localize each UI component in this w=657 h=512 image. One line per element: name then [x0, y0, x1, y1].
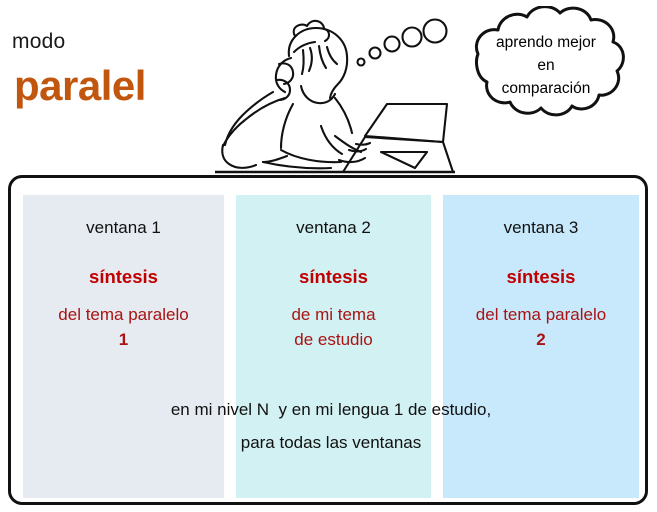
window-column-2[interactable]: ventana 2 síntesis de mi tema de estudio	[236, 195, 431, 498]
window-2-desc-line-1: de mi tema	[236, 302, 431, 327]
person-studying-icon	[215, 0, 455, 176]
mode-label: modo	[12, 30, 65, 54]
thought-bubble-text: aprendo mejor en comparación	[466, 31, 626, 100]
window-3-desc-line-1: del tema paralelo	[443, 302, 639, 327]
window-1-desc-line-1: del tema paralelo	[23, 302, 224, 327]
window-1-description: del tema paralelo 1	[23, 302, 224, 352]
header: modo paralel	[0, 0, 657, 175]
thought-bubble-line-3: comparación	[466, 77, 626, 100]
window-3-description: del tema paralelo 2	[443, 302, 639, 352]
window-1-synthesis: síntesis	[23, 265, 224, 289]
window-2-synthesis: síntesis	[236, 265, 431, 289]
window-2-title: ventana 2	[236, 217, 431, 239]
thought-bubble-line-2: en	[466, 54, 626, 77]
window-3-title: ventana 3	[443, 217, 639, 239]
window-2-description: de mi tema de estudio	[236, 302, 431, 352]
window-3-synthesis: síntesis	[443, 265, 639, 289]
window-1-title: ventana 1	[23, 217, 224, 239]
window-3-desc-line-2: 2	[443, 327, 639, 352]
window-2-desc-line-2: de estudio	[236, 327, 431, 352]
thought-bubble-line-1: aprendo mejor	[466, 31, 626, 54]
windows-panel: ventana 1 síntesis del tema paralelo 1 v…	[8, 175, 648, 505]
mode-name-paralel: paralel	[14, 62, 146, 110]
window-column-3[interactable]: ventana 3 síntesis del tema paralelo 2	[443, 195, 639, 498]
window-column-1[interactable]: ventana 1 síntesis del tema paralelo 1	[23, 195, 224, 498]
window-1-desc-line-2: 1	[23, 327, 224, 352]
